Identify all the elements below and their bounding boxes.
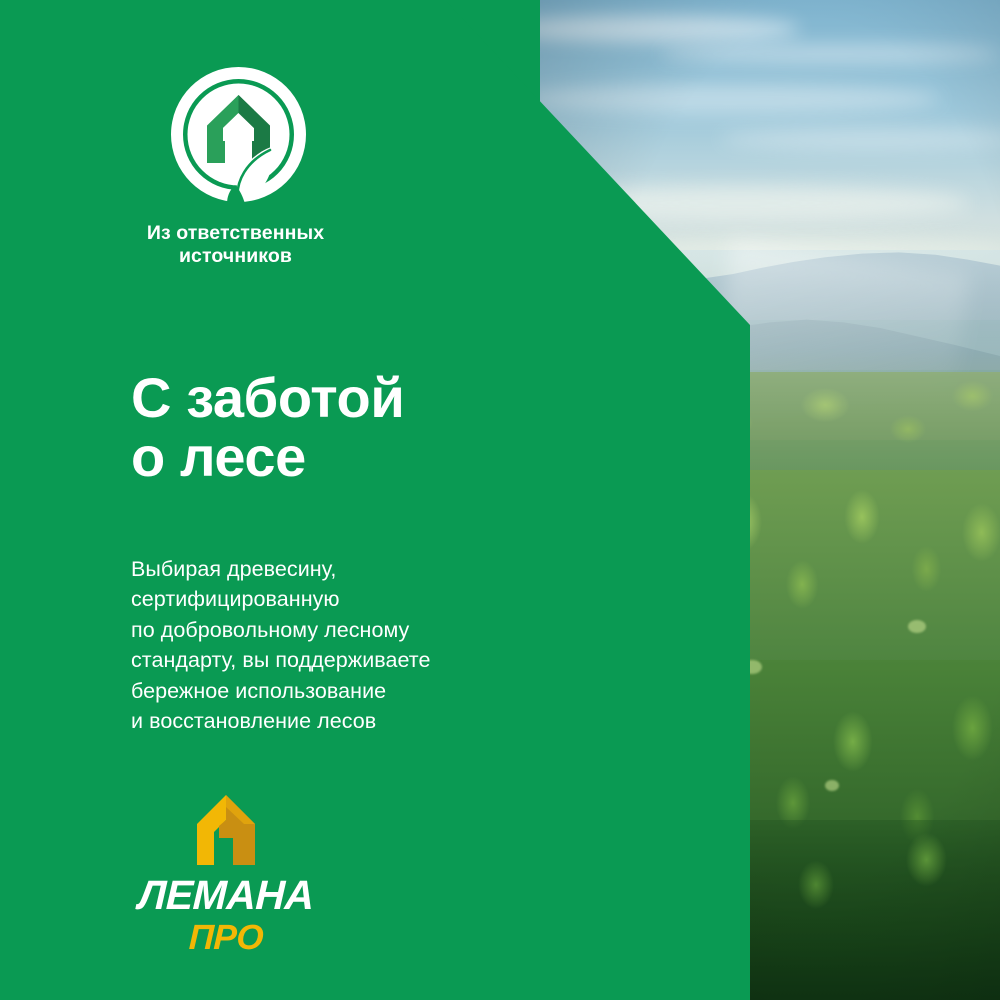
poster-canvas: Из ответственных источников С заботой о … — [0, 0, 1000, 1000]
leaf-highlight — [908, 620, 926, 633]
brand-name: ЛЕМАНА — [130, 875, 321, 916]
cloud-wisp — [540, 16, 800, 42]
cloud-wisp — [660, 44, 1000, 64]
brand-logo: ЛЕМАНА ПРО — [131, 793, 321, 955]
lemana-house-icon — [187, 793, 265, 867]
brand-sub: ПРО — [130, 920, 321, 955]
eco-certification-badge: Из ответственных источников — [129, 63, 344, 268]
eco-badge-caption: Из ответственных источников — [127, 222, 344, 268]
cloud-wisp — [540, 84, 940, 114]
body-paragraph: Выбирая древесину, сертифицированную по … — [131, 554, 430, 737]
house-leaf-circle-icon — [167, 63, 310, 206]
cloud-wisp — [720, 128, 1000, 150]
page-title: С заботой о лесе — [131, 368, 404, 488]
